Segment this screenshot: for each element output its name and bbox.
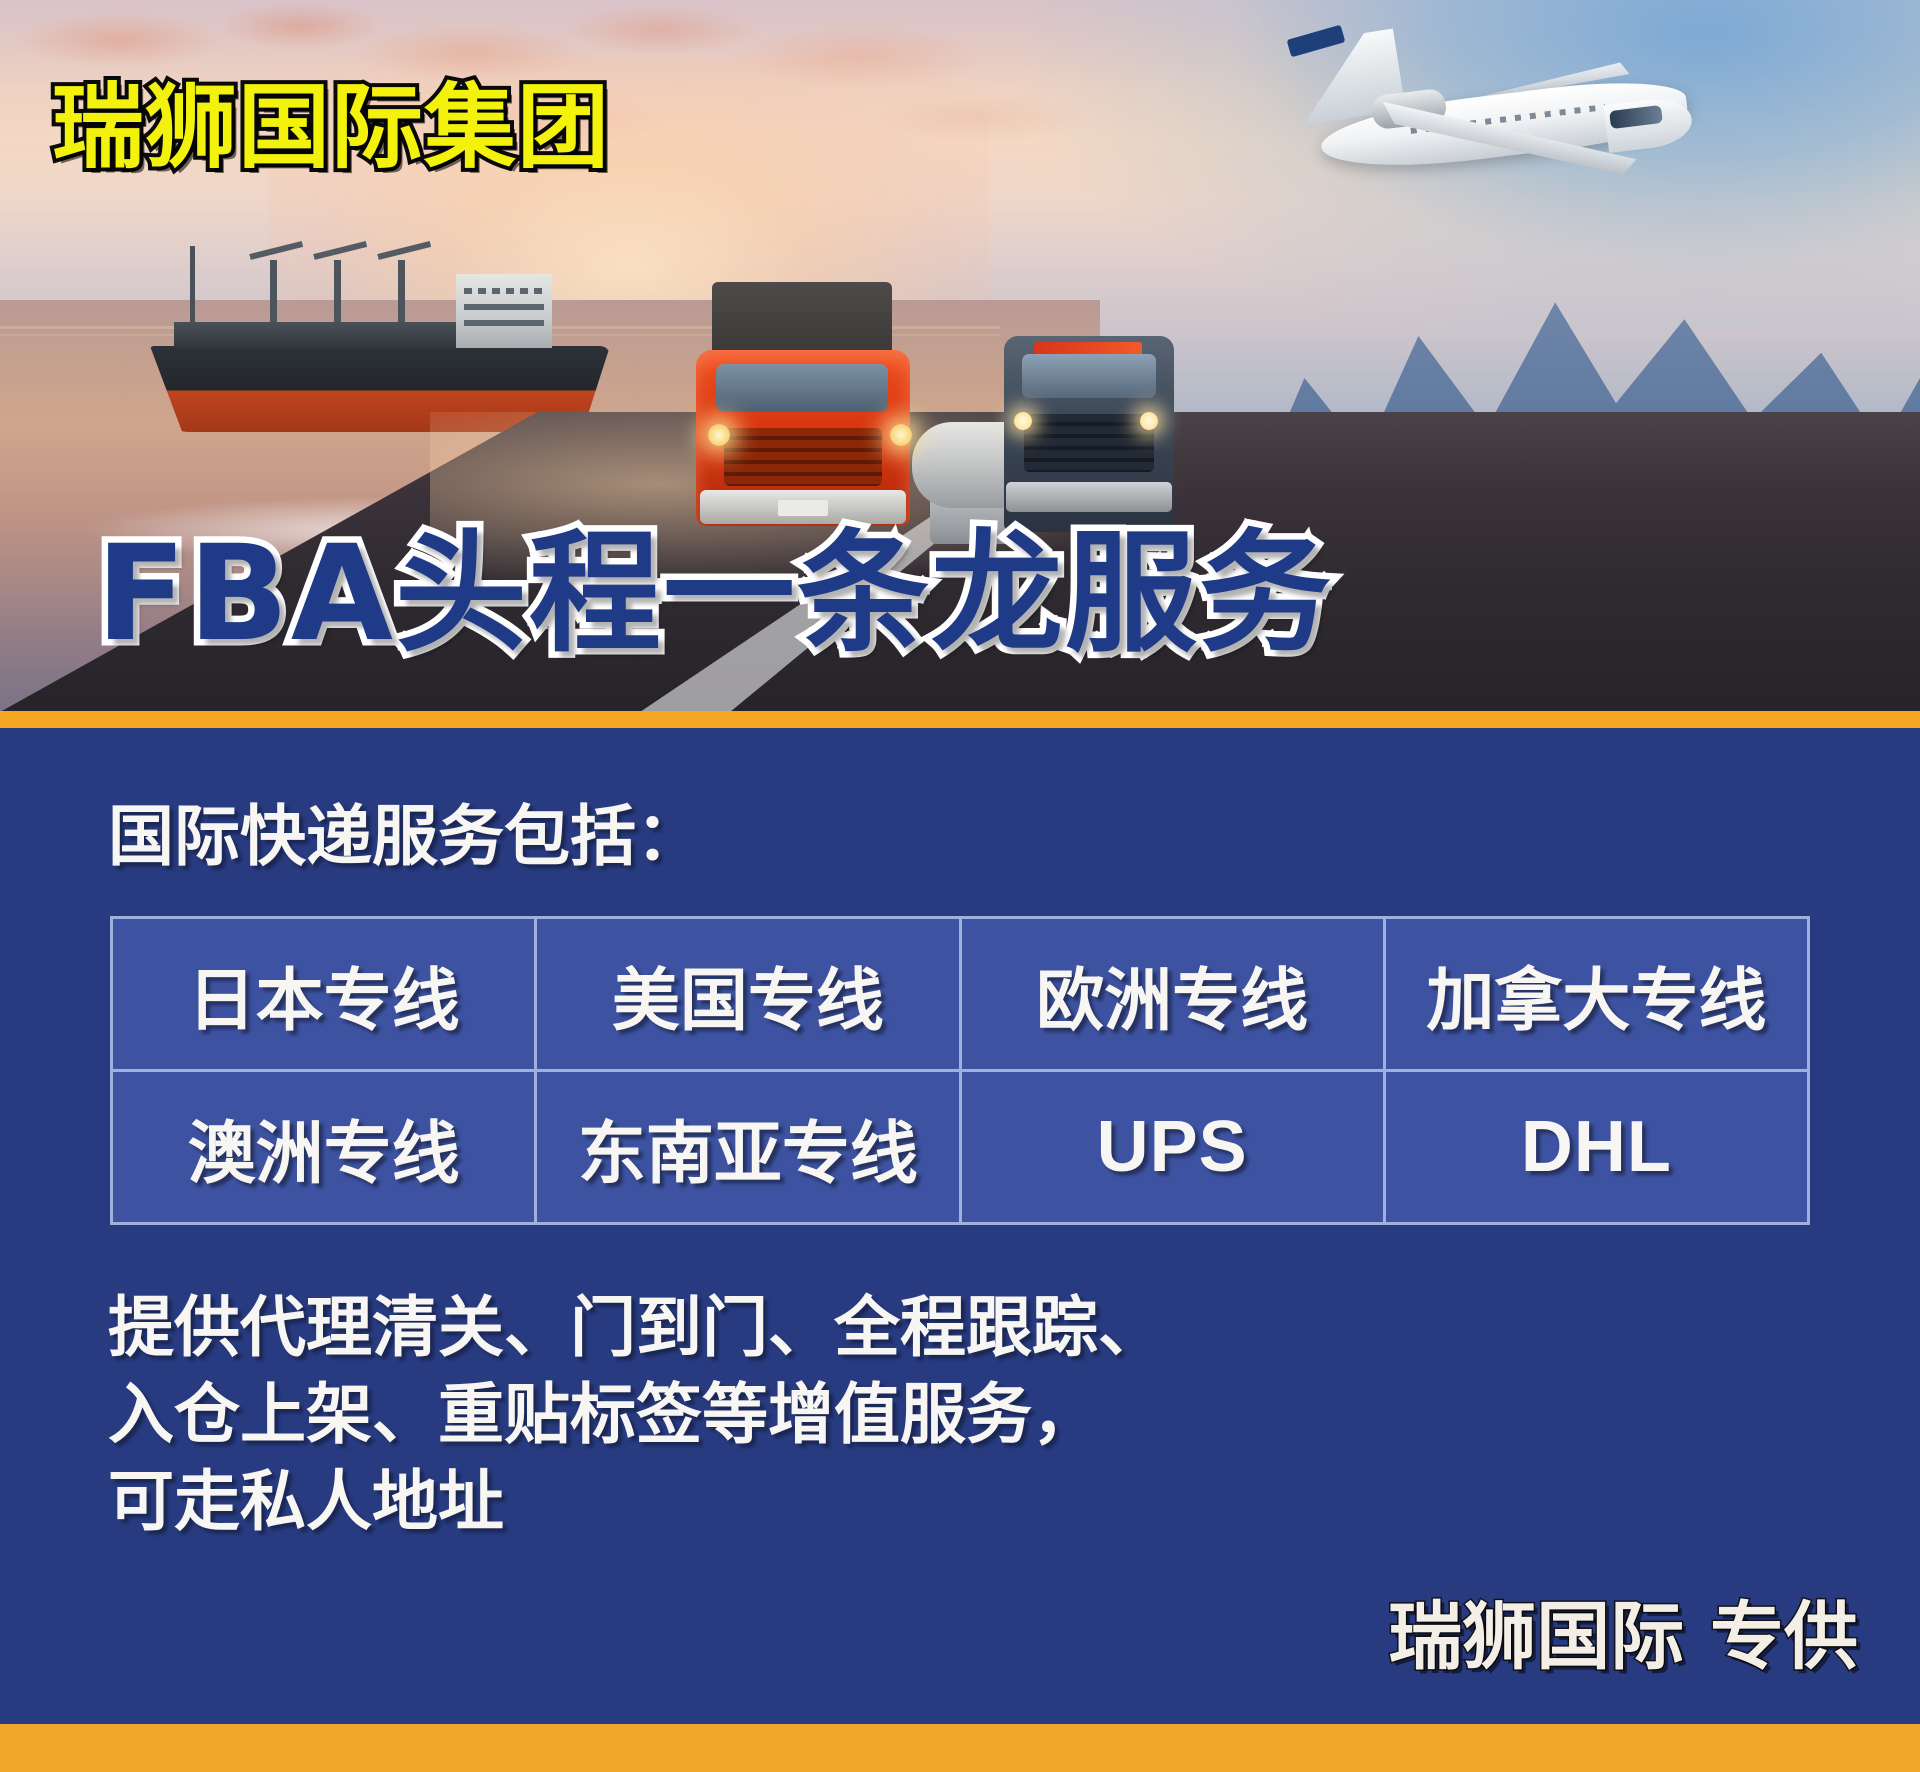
dark-truck-grille	[1024, 414, 1154, 472]
dark-truck-windshield	[1022, 354, 1156, 398]
hero-photo: 瑞狮国际集团 FBA头程一条龙服务	[0, 0, 1920, 712]
ship-deck	[174, 322, 474, 348]
ship-crane	[270, 260, 277, 322]
ship-superstructure	[456, 274, 552, 348]
headlight-icon	[1140, 412, 1158, 430]
table-row: 澳洲专线 东南亚专线 UPS DHL	[112, 1071, 1809, 1224]
jet-tail-fin	[1287, 25, 1346, 58]
service-cell-canada[interactable]: 加拿大专线	[1384, 918, 1808, 1071]
dark-truck-bumper	[1006, 482, 1172, 512]
headlight-icon	[1014, 412, 1032, 430]
service-cell-australia[interactable]: 澳洲专线	[112, 1071, 536, 1224]
red-truck-windshield	[716, 364, 888, 412]
panel-subtitle: 国际快递服务包括：	[108, 804, 702, 870]
gold-divider-bottom	[0, 1724, 1920, 1772]
services-panel: 国际快递服务包括： 日本专线 美国专线 欧洲专线 加拿大专线 澳洲专线 东南亚专…	[0, 728, 1920, 1724]
table-row: 日本专线 美国专线 欧洲专线 加拿大专线	[112, 918, 1809, 1071]
service-cell-southeast-asia[interactable]: 东南亚专线	[536, 1071, 960, 1224]
body-line-2: 入仓上架、重贴标签等增值服务，	[108, 1371, 1164, 1458]
company-signature: 瑞狮国际 专供	[1388, 1600, 1858, 1674]
gold-divider-top	[0, 711, 1920, 728]
ship-crane	[334, 260, 341, 322]
company-logo-text: 瑞狮国际集团	[52, 82, 610, 174]
jet-airplane-icon	[1280, 28, 1710, 238]
service-cell-ups[interactable]: UPS	[960, 1071, 1384, 1224]
service-cell-usa[interactable]: 美国专线	[536, 918, 960, 1071]
service-cell-dhl[interactable]: DHL	[1384, 1071, 1808, 1224]
fba-logistics-banner: 瑞狮国际集团 FBA头程一条龙服务 国际快递服务包括： 日本专线 美国专线 欧洲…	[0, 0, 1920, 1772]
red-truck-grille	[724, 428, 882, 486]
service-cell-japan[interactable]: 日本专线	[112, 918, 536, 1071]
headlight-icon	[708, 424, 730, 446]
services-table: 日本专线 美国专线 欧洲专线 加拿大专线 澳洲专线 东南亚专线 UPS DHL	[110, 916, 1810, 1225]
headlight-icon	[890, 424, 912, 446]
ship-mast	[190, 246, 195, 322]
license-plate	[778, 500, 828, 516]
value-added-services-text: 提供代理清关、门到门、全程跟踪、 入仓上架、重贴标签等增值服务， 可走私人地址	[108, 1284, 1164, 1545]
body-line-3: 可走私人地址	[108, 1458, 1164, 1545]
hero-headline: FBA头程一条龙服务	[96, 528, 1333, 660]
service-cell-europe[interactable]: 欧洲专线	[960, 918, 1384, 1071]
ship-crane	[398, 260, 405, 322]
body-line-1: 提供代理清关、门到门、全程跟踪、	[108, 1284, 1164, 1371]
